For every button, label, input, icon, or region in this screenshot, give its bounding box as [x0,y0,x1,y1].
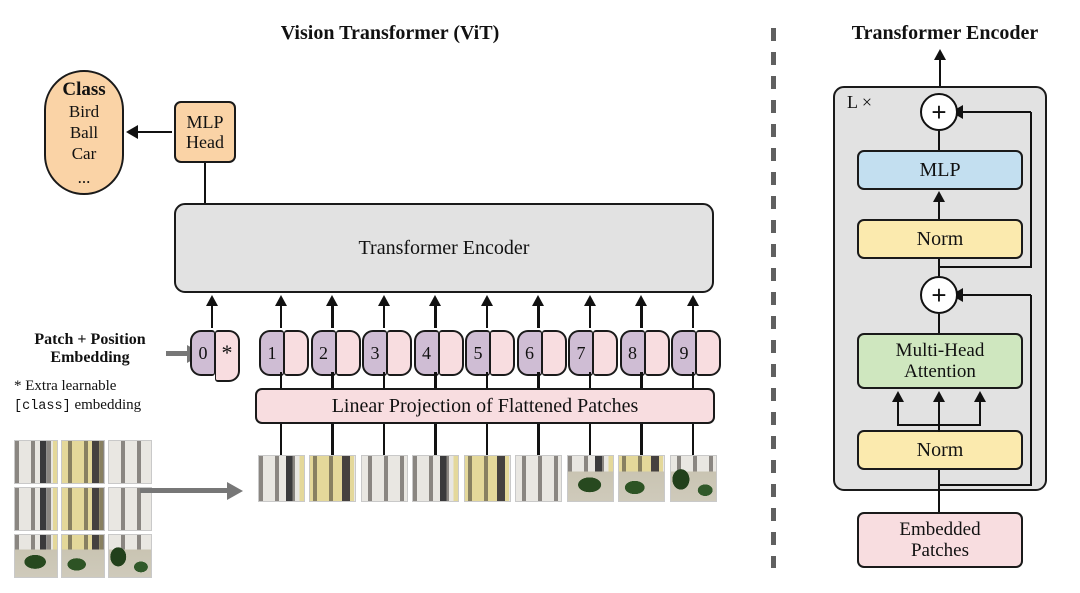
attention-to-add-bottom-line [938,314,940,333]
attention-qkv-arrow-1 [938,400,940,426]
norm-bottom-stem [938,424,940,432]
embedded-patches-to-norm-line [938,470,940,512]
residual-add-bottom: + [920,276,958,314]
encoder-block-wiring [0,0,1080,593]
mlp-to-add-top-line [938,131,940,150]
residual-bus-bottom-vertical [1030,295,1032,486]
residual-add-top: + [920,93,958,131]
residual-bus-top-lower [939,266,1031,268]
residual-bus-bottom-arrow [961,294,1031,296]
attention-qkv-arrow-0 [897,400,899,426]
residual-bus-bottom-lower [939,484,1031,486]
residual-bus-top-arrow [961,111,1031,113]
residual-bus-top-vertical [1030,112,1032,268]
attention-qkv-arrow-2 [979,400,981,426]
figure-canvas: Vision Transformer (ViT) Class Bird Ball… [0,0,1080,593]
norm-to-mlp-arrow [938,200,940,219]
